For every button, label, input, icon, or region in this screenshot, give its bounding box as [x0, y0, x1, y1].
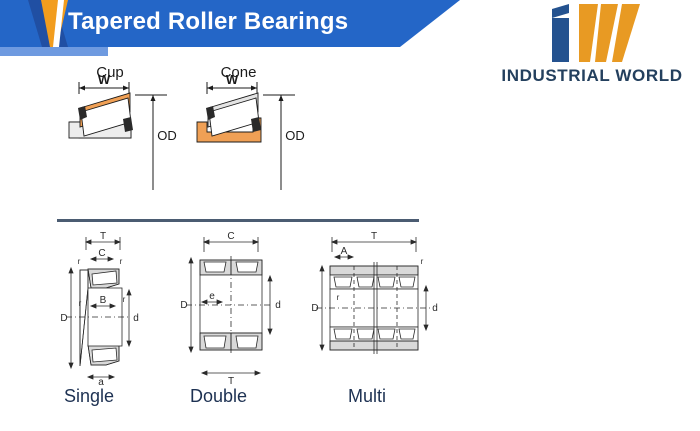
bottom-caption-row: Single Double Multi	[0, 386, 470, 416]
brand-logo: INDUSTRIAL WORLD	[486, 4, 698, 92]
diagram-cup: Cup W OD	[55, 60, 175, 210]
svg-text:r: r	[120, 257, 123, 266]
diagram-double: C e D d T	[178, 228, 296, 388]
svg-text:T: T	[100, 231, 106, 242]
svg-text:OD: OD	[285, 128, 305, 143]
caption-double: Double	[190, 386, 247, 407]
svg-text:C: C	[227, 231, 234, 242]
diagram-cup-caption: Cup	[65, 64, 155, 81]
diagram-double-svg: C e D d T	[178, 228, 296, 386]
svg-text:e: e	[209, 291, 215, 302]
svg-text:r: r	[78, 257, 81, 266]
logo-text: INDUSTRIAL WORLD	[486, 66, 698, 86]
svg-text:D: D	[60, 313, 67, 324]
svg-text:C: C	[98, 248, 105, 259]
svg-text:d: d	[133, 313, 139, 324]
svg-text:r: r	[337, 293, 340, 302]
section-divider	[57, 219, 419, 222]
diagram-multi: T A D d r r	[312, 228, 442, 388]
logo-mark-icon	[546, 4, 656, 62]
caption-single: Single	[64, 386, 114, 407]
svg-text:D: D	[180, 300, 187, 311]
bottom-diagram-row: T C B D d a r r r r	[0, 228, 470, 388]
top-diagram-row: Cup W OD Cone	[0, 60, 480, 210]
svg-text:T: T	[371, 231, 377, 242]
svg-text:r: r	[123, 295, 126, 304]
svg-text:d: d	[432, 303, 438, 314]
svg-text:r: r	[79, 299, 82, 308]
header-light-bar	[0, 47, 108, 56]
diagram-single-svg: T C B D d a r r r r	[58, 228, 173, 386]
diagram-multi-svg: T A D d r r	[312, 228, 442, 386]
diagram-cone-caption: Cone	[191, 64, 286, 81]
svg-text:d: d	[275, 300, 281, 311]
svg-text:D: D	[311, 303, 318, 314]
diagram-cone: Cone W OD	[183, 60, 308, 210]
svg-text:B: B	[100, 295, 107, 306]
caption-multi: Multi	[348, 386, 386, 407]
svg-text:r: r	[421, 257, 424, 266]
page-title: Tapered Roller Bearings	[68, 8, 348, 36]
diagram-single: T C B D d a r r r r	[58, 228, 173, 388]
svg-text:OD: OD	[157, 128, 177, 143]
svg-text:A: A	[341, 246, 348, 257]
